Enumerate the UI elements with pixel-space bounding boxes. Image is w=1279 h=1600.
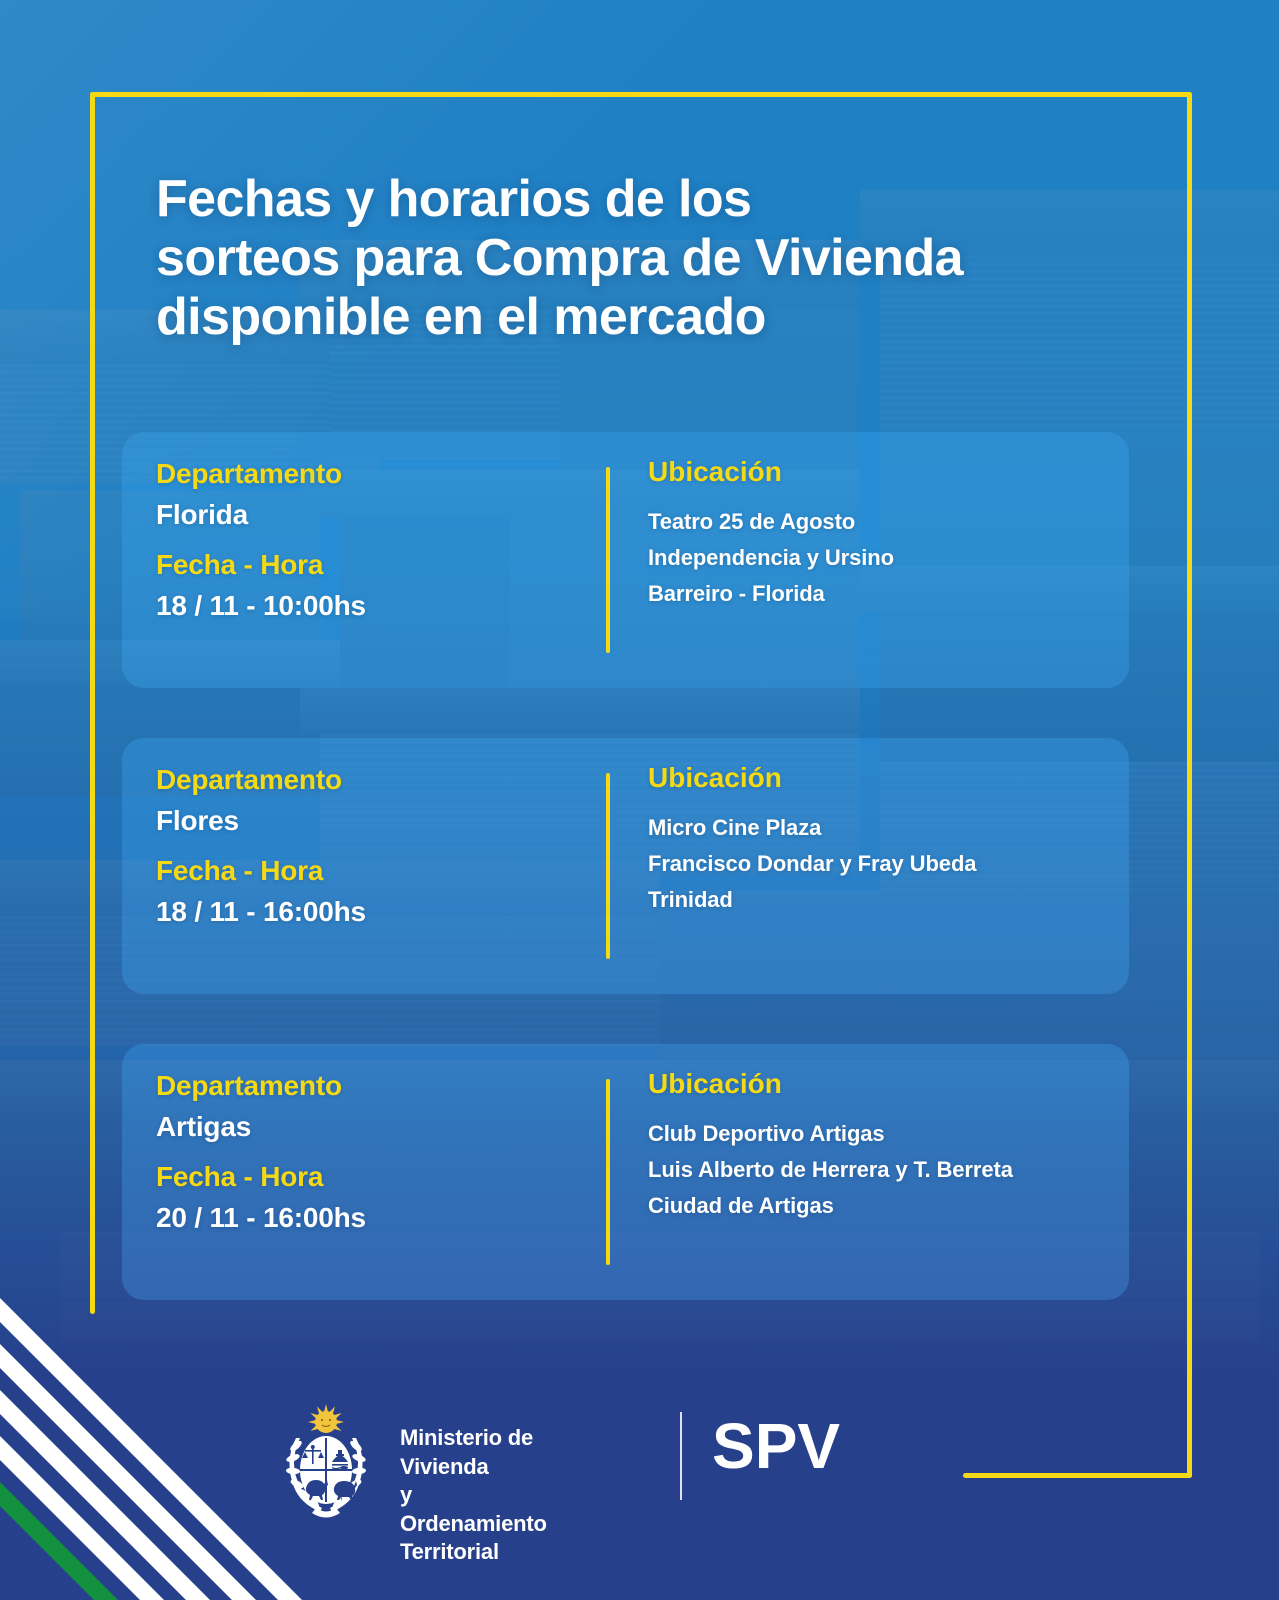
page-title: Fechas y horarios de los sorteos para Co… [156, 170, 1146, 346]
location-label: Ubicación [648, 760, 1108, 796]
poster-root: Fechas y horarios de los sorteos para Co… [0, 0, 1279, 1600]
draw-info-card: Departamento Artigas Fecha - Hora 20 / 1… [122, 1044, 1129, 1300]
spv-logo-text: SPV [712, 1414, 840, 1478]
datetime-label: Fecha - Hora [156, 851, 586, 892]
department-value: Artigas [156, 1107, 586, 1148]
frame-top-line [90, 92, 1192, 97]
location-line: Francisco Dondar y Fray Ubeda [648, 846, 1108, 882]
ministry-name-line-1: Ministerio de Vivienda [400, 1424, 547, 1481]
card-vertical-divider [606, 467, 610, 653]
brand-separator [680, 1412, 682, 1500]
department-value: Flores [156, 801, 586, 842]
page-title-line-3: disponible en el mercado [156, 288, 1146, 347]
card-left-column: Departamento Flores Fecha - Hora 18 / 11… [156, 760, 586, 942]
page-title-line-2: sorteos para Compra de Vivienda [156, 229, 1146, 288]
location-label: Ubicación [648, 454, 1108, 490]
card-right-column: Ubicación Club Deportivo Artigas Luis Al… [648, 1066, 1108, 1223]
location-line: Teatro 25 de Agosto [648, 504, 1108, 540]
datetime-value: 18 / 11 - 10:00hs [156, 586, 586, 627]
department-value: Florida [156, 495, 586, 536]
datetime-value: 20 / 11 - 16:00hs [156, 1198, 586, 1239]
frame-bottom-line [963, 1473, 1192, 1478]
department-label: Departamento [156, 454, 586, 495]
datetime-label: Fecha - Hora [156, 1157, 586, 1198]
card-right-column: Ubicación Teatro 25 de Agosto Independen… [648, 454, 1108, 611]
draw-info-card: Departamento Flores Fecha - Hora 18 / 11… [122, 738, 1129, 994]
location-line: Independencia y Ursino [648, 540, 1108, 576]
location-line: Barreiro - Florida [648, 576, 1108, 612]
datetime-label: Fecha - Hora [156, 545, 586, 586]
ministry-name: Ministerio de Vivienda y Ordenamiento Te… [400, 1424, 547, 1567]
frame-right-line [1187, 92, 1192, 1478]
location-line: Club Deportivo Artigas [648, 1116, 1108, 1152]
datetime-value: 18 / 11 - 16:00hs [156, 892, 586, 933]
location-line: Trinidad [648, 882, 1108, 918]
page-title-line-1: Fechas y horarios de los [156, 170, 1146, 229]
location-line: Luis Alberto de Herrera y T. Berreta [648, 1152, 1108, 1188]
card-left-column: Departamento Artigas Fecha - Hora 20 / 1… [156, 1066, 586, 1248]
draw-info-card: Departamento Florida Fecha - Hora 18 / 1… [122, 432, 1129, 688]
location-line: Ciudad de Artigas [648, 1188, 1108, 1224]
department-label: Departamento [156, 760, 586, 801]
ministry-name-line-2: y Ordenamiento Territorial [400, 1481, 547, 1567]
department-label: Departamento [156, 1066, 586, 1107]
location-label: Ubicación [648, 1066, 1108, 1102]
card-right-column: Ubicación Micro Cine Plaza Francisco Don… [648, 760, 1108, 917]
card-vertical-divider [606, 1079, 610, 1265]
uruguay-coat-of-arms-icon [272, 1392, 380, 1522]
frame-left-line [90, 92, 95, 1314]
card-left-column: Departamento Florida Fecha - Hora 18 / 1… [156, 454, 586, 636]
location-line: Micro Cine Plaza [648, 810, 1108, 846]
card-vertical-divider [606, 773, 610, 959]
